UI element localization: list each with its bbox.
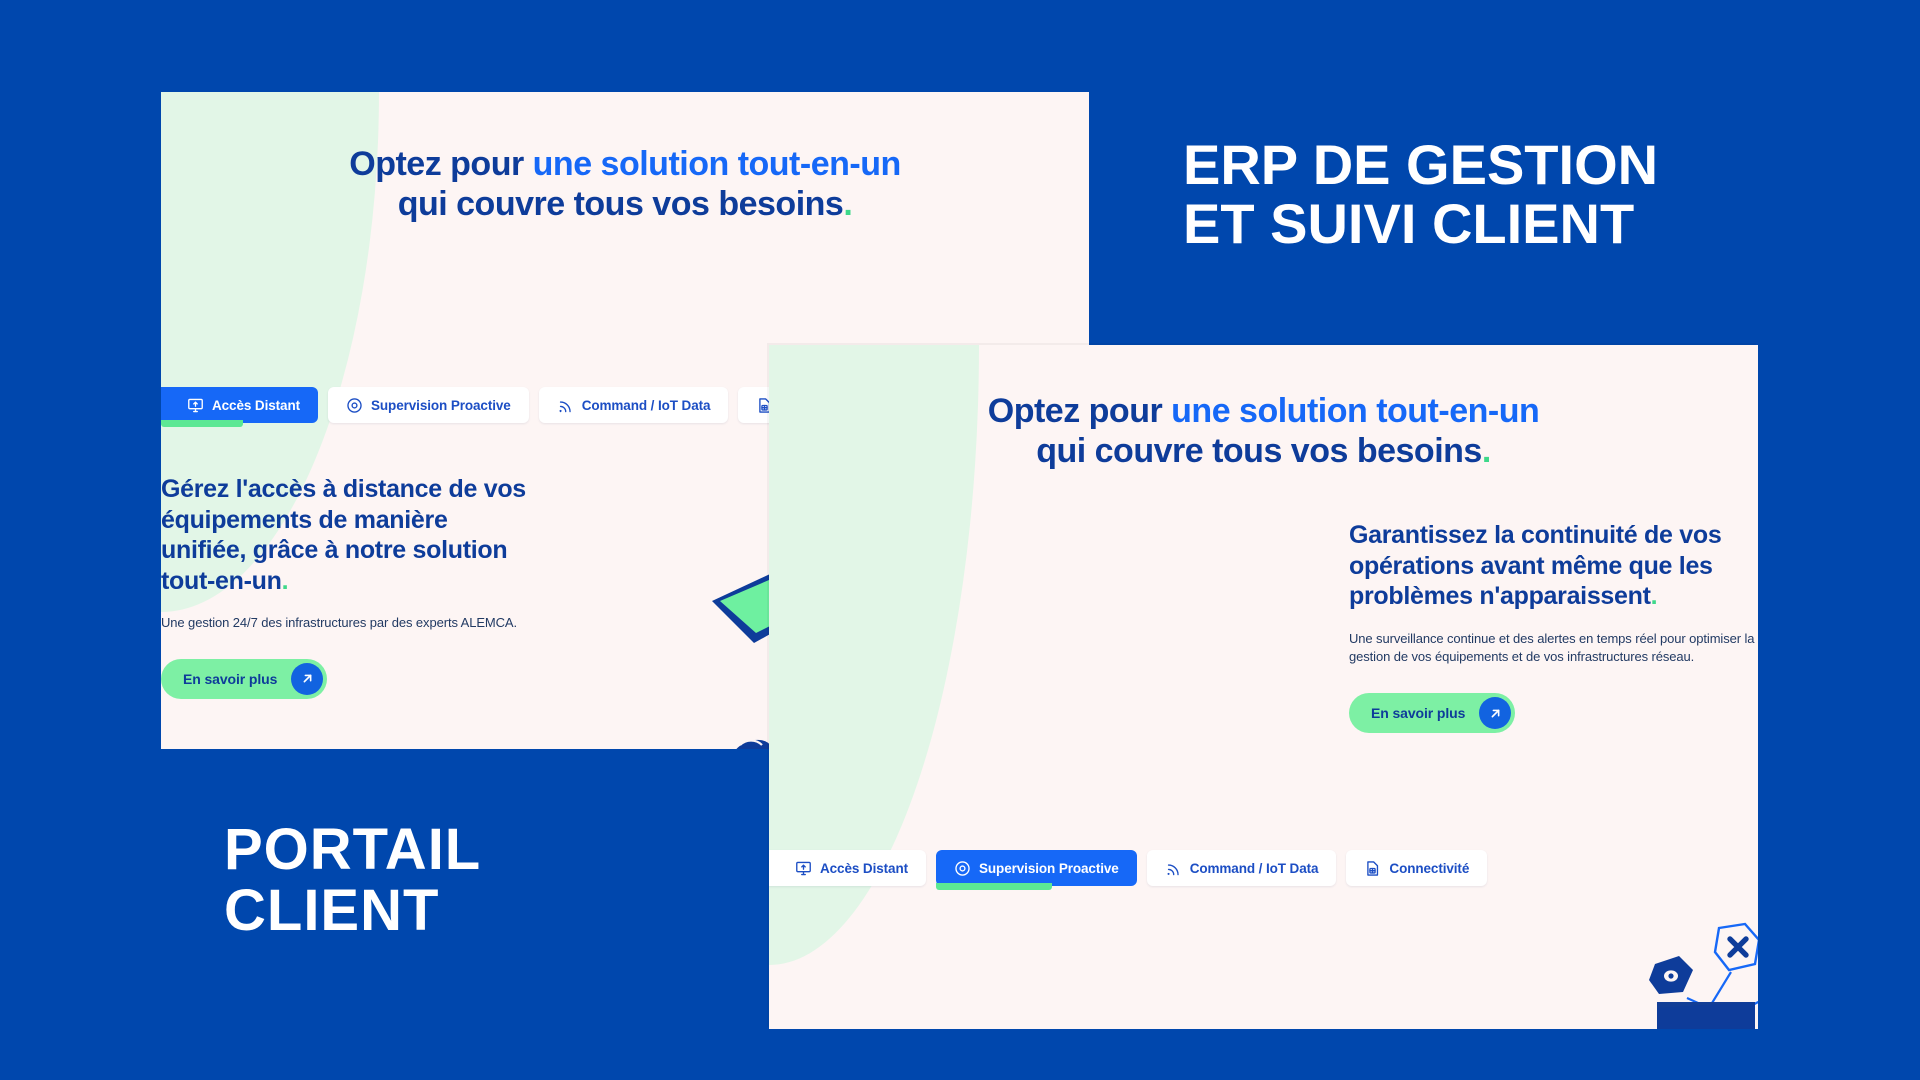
tab-acces-distant[interactable]: Accès Distant — [161, 387, 318, 423]
eye-icon — [346, 397, 363, 414]
arrow-up-right-icon — [1479, 697, 1511, 729]
background-label-erp: ERP DE GESTION ET SUIVI CLIENT — [1183, 136, 1658, 254]
eye-icon — [954, 860, 971, 877]
headline-line2: qui couvre tous vos besoins — [398, 185, 844, 223]
content-heading-dot: . — [1651, 582, 1658, 610]
content-subtitle: Une gestion 24/7 des infrastructures par… — [161, 614, 526, 633]
headline-accent-dot: . — [1482, 432, 1491, 470]
learn-more-label: En savoir plus — [183, 671, 277, 687]
tab-label: Command / IoT Data — [582, 398, 711, 413]
card-proactive-supervision: Optez pour une solution tout-en-un qui c… — [769, 345, 1758, 1029]
person-dashboard-monitoring-illustration — [1559, 890, 1758, 1029]
tab-connectivite[interactable]: Connectivité — [1346, 850, 1487, 886]
sim-card-icon — [1364, 860, 1381, 877]
tab-label: Supervision Proactive — [371, 398, 511, 413]
tab-label: Connectivité — [1389, 861, 1469, 876]
headline-line1-plain: Optez pour — [349, 145, 532, 183]
content-heading-dot: . — [282, 567, 289, 595]
tab-label: Command / IoT Data — [1190, 861, 1319, 876]
background-label-portail: PORTAIL CLIENT — [224, 820, 481, 942]
tab-supervision-proactive[interactable]: Supervision Proactive — [936, 850, 1137, 886]
tab-command-iot-data[interactable]: Command / IoT Data — [539, 387, 729, 423]
tab-command-iot-data[interactable]: Command / IoT Data — [1147, 850, 1337, 886]
content-heading: Garantissez la continuité de vos opérati… — [1349, 520, 1758, 612]
content-heading: Gérez l'accès à distance de vos équipeme… — [161, 474, 526, 596]
card-content: Garantissez la continuité de vos opérati… — [1349, 520, 1758, 733]
signal-wave-icon — [557, 397, 574, 414]
learn-more-button[interactable]: En savoir plus — [161, 659, 327, 699]
headline-line1-plain: Optez pour — [988, 392, 1171, 430]
learn-more-label: En savoir plus — [1371, 705, 1465, 721]
headline-line1-accent: une solution tout-en-un — [1171, 392, 1539, 430]
tab-acces-distant[interactable]: Accès Distant — [769, 850, 926, 886]
monitor-upload-icon — [187, 397, 204, 414]
headline-accent-dot: . — [843, 185, 852, 223]
content-heading-text: Garantissez la continuité de vos opérati… — [1349, 521, 1721, 610]
tab-label: Accès Distant — [820, 861, 908, 876]
content-heading-text: Gérez l'accès à distance de vos équipeme… — [161, 475, 526, 595]
card-headline: Optez pour une solution tout-en-un qui c… — [161, 144, 1089, 224]
monitor-upload-icon — [795, 860, 812, 877]
tab-supervision-proactive[interactable]: Supervision Proactive — [328, 387, 529, 423]
signal-wave-icon — [1165, 860, 1182, 877]
card-content: Gérez l'accès à distance de vos équipeme… — [161, 474, 526, 699]
headline-line1-accent: une solution tout-en-un — [533, 145, 901, 183]
tab-label: Supervision Proactive — [979, 861, 1119, 876]
learn-more-button[interactable]: En savoir plus — [1349, 693, 1515, 733]
tabbar: Accès Distant Supervision Proactive Comm… — [769, 850, 1487, 886]
tab-label: Accès Distant — [212, 398, 300, 413]
arrow-up-right-icon — [291, 663, 323, 695]
content-subtitle: Une surveillance continue et des alertes… — [1349, 630, 1758, 668]
headline-line2: qui couvre tous vos besoins — [1036, 432, 1482, 470]
card-headline: Optez pour une solution tout-en-un qui c… — [769, 391, 1758, 471]
